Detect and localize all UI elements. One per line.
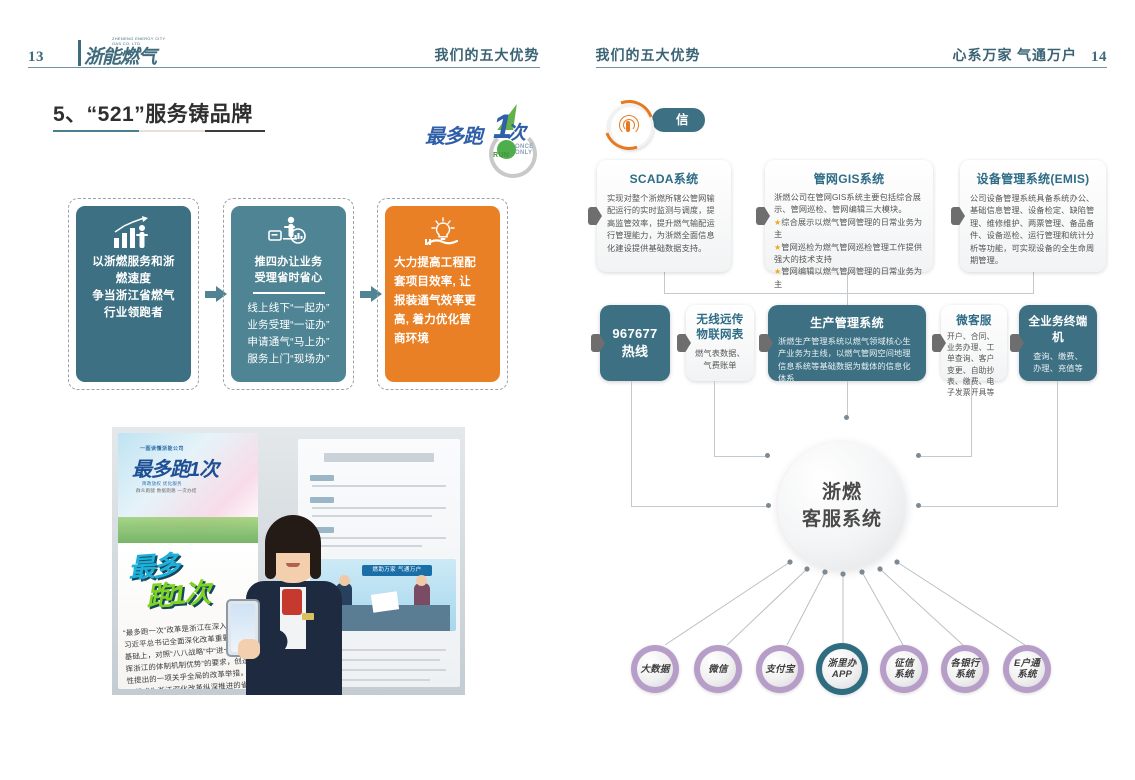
conn-dot-terminal xyxy=(916,503,921,508)
conn-hotline-v xyxy=(631,381,632,506)
leaf-label: 微信 xyxy=(708,664,727,675)
node-gis-bullet-2: ★管网巡检为燃气管网巡检管理工作提供强大的技术支持 xyxy=(774,242,924,267)
conn-bus-to-prod xyxy=(847,293,848,305)
leaf-label: 大数据 xyxy=(640,664,669,675)
hub-label: 浙燃 客服系统 xyxy=(802,479,882,533)
node-nub-icon xyxy=(591,334,605,352)
conn-top-1-v xyxy=(664,272,665,294)
node-production-desc: 浙燃生产管理系统以燃气领域核心生产业务为主线，以燃气管网空间地理信息系统等基础数… xyxy=(778,336,916,386)
leaf-node-banks[interactable]: 各银行系统 xyxy=(941,645,989,693)
node-emis[interactable]: 设备管理系统(EMIS) 公司设备管理系统具备系统办公、基础信息管理、设备检定、… xyxy=(960,160,1106,272)
conn-iot-v xyxy=(714,381,715,456)
badge-sub-en: RUN xyxy=(493,152,509,159)
badge-suffix: 次 xyxy=(507,118,526,145)
node-iot-title: 无线远传物联网表 xyxy=(692,313,748,343)
left-page: 13 ZHENENG ENERGY CITY GAS CO. LTD 浙能燃气 … xyxy=(0,0,568,780)
badge-sub-en2: ONCE ONLY xyxy=(515,144,543,156)
leaf-label: 浙里办APP xyxy=(827,658,856,680)
left-running-head: 13 ZHENENG ENERGY CITY GAS CO. LTD 浙能燃气 … xyxy=(28,40,540,68)
conn-hotline-h xyxy=(631,506,768,507)
hub-line-1: 浙燃 xyxy=(822,482,862,503)
board-tag-1 xyxy=(310,475,334,481)
hub-line-2: 客服系统 xyxy=(802,509,882,530)
banner-title: 最多跑1次 xyxy=(132,453,218,482)
right-header-left-text: 我们的五大优势 xyxy=(596,45,701,65)
event-photo: 一图读懂浙能公司 最多跑1次 简政放权 优化服务 群众跑腿 数据跑路 一次办结 … xyxy=(112,427,465,695)
conn-wechat-h xyxy=(918,456,972,457)
person-hand xyxy=(238,639,260,659)
brochure-spread: 13 ZHENENG ENERGY CITY GAS CO. LTD 浙能燃气 … xyxy=(0,0,1135,780)
node-terminal-desc: 查询、缴费、办理、充值等 xyxy=(1024,351,1092,376)
node-wechat-title: 微客服 xyxy=(947,312,1001,328)
node-hotline[interactable]: 967677热线 xyxy=(600,305,670,381)
card-2-list: 线上线下“一起办” 业务受理“一证办” 申请通气“马上办” 服务上门“现场办” xyxy=(240,300,337,368)
hub-customer-service[interactable]: 浙燃 客服系统 xyxy=(778,442,906,570)
board-line-1 xyxy=(312,485,446,487)
conn-prod-v xyxy=(847,381,848,417)
node-nub-icon xyxy=(951,207,965,225)
conn-top-bus xyxy=(664,293,1034,294)
logo-chinese: 浙能燃气 xyxy=(84,42,156,69)
left-header-text: 我们的五大优势 xyxy=(435,45,540,65)
banner-big-2: 跑1次 xyxy=(145,571,211,614)
right-running-head: 我们的五大优势 心系万家 气通万户 14 xyxy=(596,40,1108,68)
conn-terminal-v xyxy=(1057,381,1058,506)
card-leader[interactable]: 以浙燃服务和浙 燃速度 争当浙江省燃气 行业领跑者 xyxy=(76,206,191,382)
section-title: 5、“521”服务铸品牌 xyxy=(53,98,253,128)
card-2-divider xyxy=(253,292,325,294)
conn-wechat-v xyxy=(971,381,972,456)
banner-top-small: 一图读懂浙能公司 xyxy=(140,445,184,452)
conn-dot-wechat xyxy=(916,453,921,458)
bar-chart-person-icon xyxy=(85,216,182,250)
leaf-node-wechat[interactable]: 微信 xyxy=(694,645,742,693)
run-once-badge: 最多跑 1 次 RUN ONCE ONLY xyxy=(423,104,543,170)
node-emis-desc: 公司设备管理系统具备系统办公、基础信息管理、设备检定、缺陷管理、维修维护、两票管… xyxy=(970,193,1096,267)
bulb-hand-icon xyxy=(394,216,491,250)
conn-dot-prod xyxy=(844,415,849,420)
node-gis[interactable]: 管网GIS系统 浙燃公司在管网GIS系统主要包括综合展示、管网巡检、管网编辑三大… xyxy=(765,160,933,272)
node-nub-icon xyxy=(677,334,691,352)
leaf-node-alipay[interactable]: 支付宝 xyxy=(756,645,804,693)
conn-terminal-h xyxy=(918,506,1058,507)
right-header-right-text: 心系万家 气通万户 xyxy=(953,45,1078,65)
person-badge xyxy=(302,613,314,620)
board-title-bar xyxy=(324,453,434,462)
board-tag-2 xyxy=(310,497,334,503)
node-gis-bullet-1: ★综合展示以燃气管网管理的日常业务为主 xyxy=(774,217,924,242)
card-3-body: 大力提高工程配 套项目效率, 让 报装通气效率更 高, 着力优化营 商环境 xyxy=(394,254,491,349)
node-terminal[interactable]: 全业务终端机 查询、缴费、办理、充值等 xyxy=(1019,305,1097,381)
board-line-2 xyxy=(312,507,446,509)
conn-dot-hotline xyxy=(766,503,771,508)
node-iot-meter[interactable]: 无线远传物联网表 燃气表数据、气费账单 xyxy=(686,305,754,381)
node-emis-title: 设备管理系统(EMIS) xyxy=(970,170,1096,187)
leaf-node-credit[interactable]: 征信系统 xyxy=(880,645,928,693)
leaf-label: 征信系统 xyxy=(894,658,913,680)
card-slot-1: 以浙燃服务和浙 燃速度 争当浙江省燃气 行业领跑者 xyxy=(68,198,199,390)
node-nub-icon xyxy=(1010,334,1024,352)
card-slot-3: 大力提高工程配 套项目效率, 让 报装通气效率更 高, 着力优化营 商环境 xyxy=(377,198,508,390)
node-nub-icon xyxy=(932,334,946,352)
card-slot-2: 推四办让业务 受理省时省心 线上线下“一起办” 业务受理“一证办” 申请通气“马… xyxy=(223,198,354,390)
banner-sub2: 群众跑腿 数据跑路 一次办结 xyxy=(136,488,197,494)
right-page-number: 14 xyxy=(1091,49,1107,66)
card-2-heading: 推四办让业务 受理省时省心 xyxy=(240,254,337,286)
section-title-rule xyxy=(53,130,265,132)
person-mouth xyxy=(286,563,300,567)
node-hotline-title: 967677热线 xyxy=(612,325,657,361)
leaf-label: 各银行系统 xyxy=(950,658,979,680)
card-four-services[interactable]: 推四办让业务 受理省时省心 线上线下“一起办” 业务受理“一证办” 申请通气“马… xyxy=(231,206,346,382)
card-1-heading: 以浙燃服务和浙 燃速度 争当浙江省燃气 行业领跑者 xyxy=(85,254,182,322)
node-scada-title: SCADA系统 xyxy=(607,170,721,187)
left-page-number: 13 xyxy=(28,49,44,66)
node-iot-desc: 燃气表数据、气费账单 xyxy=(692,348,748,373)
logo-bar xyxy=(78,40,81,66)
pill-label: 信息化提升服务能力 xyxy=(652,108,705,132)
node-gis-desc: 浙燃公司在管网GIS系统主要包括综合展示、管网巡检、管网编辑三大模块。 xyxy=(774,192,924,217)
conn-top-3-v xyxy=(1033,272,1034,294)
node-nub-icon xyxy=(759,334,773,352)
photo-person xyxy=(240,513,348,695)
node-production[interactable]: 生产管理系统 浙燃生产管理系统以燃气领域核心生产业务为主线，以燃气管网空间地理信… xyxy=(768,305,926,381)
card-efficiency[interactable]: 大力提高工程配 套项目效率, 让 报装通气效率更 高, 着力优化营 商环境 xyxy=(385,206,500,382)
node-nub-icon xyxy=(756,207,770,225)
banner-sub1: 简政放权 优化服务 xyxy=(142,481,182,487)
header-rule-right xyxy=(596,67,1108,68)
node-gis-bullet-3: ★管网编辑以燃气管网管理的日常业务为主 xyxy=(774,266,924,291)
conn-dot-iot xyxy=(765,453,770,458)
node-nub-icon xyxy=(588,207,602,225)
leaf-node-bigdata[interactable]: 大数据 xyxy=(631,645,679,693)
wifi-touch-icon xyxy=(617,113,639,135)
node-wechat-desc: 开户、合同、业务办理、工单查询、客户变更、自助抄表、缴费、电子发票开具等 xyxy=(947,331,1001,398)
leaf-label: E户通系统 xyxy=(1014,658,1040,680)
node-scada-desc: 实现对整个浙燃所辖公管网输配运行的实时监测与调度，提高监管效率，提升燃气输配运行… xyxy=(607,193,721,255)
node-scada[interactable]: SCADA系统 实现对整个浙燃所辖公管网输配运行的实时监测与调度，提高监管效率，… xyxy=(597,160,731,272)
person-hair-left xyxy=(265,539,276,579)
leaf-node-zhelib-app[interactable]: 浙里办APP xyxy=(816,643,868,695)
cartoon-head-2 xyxy=(416,575,427,586)
person-scarf xyxy=(282,589,302,615)
node-production-title: 生产管理系统 xyxy=(778,314,916,331)
node-terminal-title: 全业务终端机 xyxy=(1024,313,1092,345)
leaf-label: 支付宝 xyxy=(765,664,794,675)
cartoon-paper xyxy=(371,591,399,612)
node-wechat-service[interactable]: 微客服 开户、合同、业务办理、工单查询、客户变更、自助抄表、缴费、电子发票开具等 xyxy=(941,305,1007,381)
person-hair-right xyxy=(310,539,321,579)
strategy-cards: 以浙燃服务和浙 燃速度 争当浙江省燃气 行业领跑者 xyxy=(68,198,508,390)
leaf-node-ehutong[interactable]: E户通系统 xyxy=(1003,645,1051,693)
service-counter-icon xyxy=(240,216,337,250)
cartoon-person-2 xyxy=(414,583,430,605)
badge-main-text: 最多跑 xyxy=(425,120,482,149)
node-gis-title: 管网GIS系统 xyxy=(774,170,924,187)
conn-iot-h xyxy=(714,456,768,457)
company-logo: ZHENENG ENERGY CITY GAS CO. LTD 浙能燃气 xyxy=(78,36,173,70)
